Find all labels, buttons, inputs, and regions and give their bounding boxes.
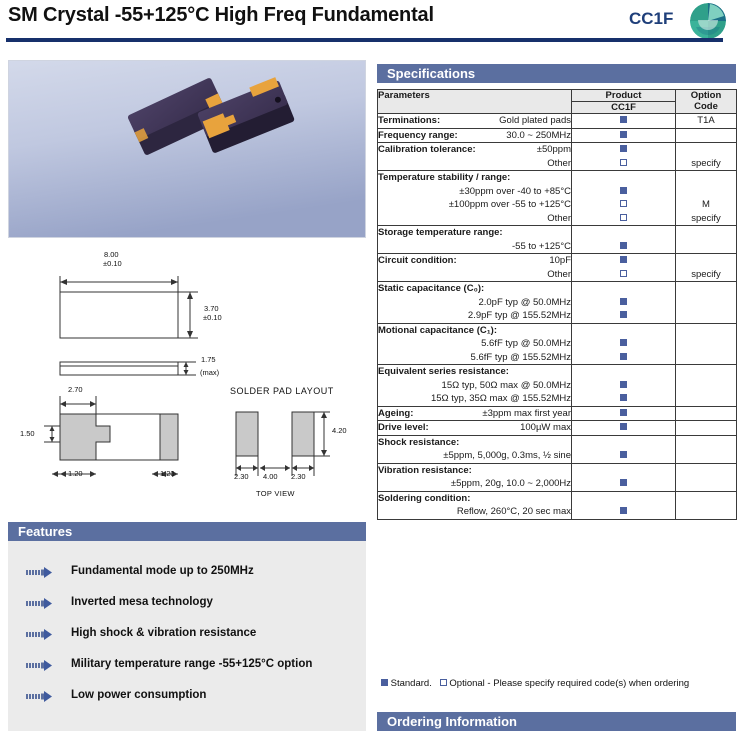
option-code-cell: T1A <box>676 114 737 129</box>
parameter-label-line: Temperature stability / range: <box>378 171 571 185</box>
parameter-label-line: Circuit condition:10pF <box>378 254 571 268</box>
option-code-cell <box>676 435 737 463</box>
parameter-cell: Soldering condition:Reflow, 260°C, 20 se… <box>378 491 572 519</box>
option-code-cell <box>676 365 737 407</box>
table-row: Motional capacitance (C₁):5.6fF typ @ 50… <box>378 323 737 365</box>
parameter-cell: Equivalent series resistance:15Ω typ, 50… <box>378 365 572 407</box>
table-row: Static capacitance (C₀):2.0pF typ @ 50.0… <box>378 282 737 324</box>
features-panel: Fundamental mode up to 250MHzInverted me… <box>8 541 366 731</box>
parameter-label-line: Soldering condition: <box>378 492 571 506</box>
col-option-line1: Option <box>676 90 736 101</box>
parameter-cell: Temperature stability / range:±30ppm ove… <box>378 171 572 226</box>
table-row: Equivalent series resistance:15Ω typ, 50… <box>378 365 737 407</box>
parameter-sub-line: 2.9pF typ @ 155.52MHz <box>378 309 571 323</box>
marker-standard-icon <box>620 451 627 458</box>
parameter-label-line: Calibration tolerance:±50ppm <box>378 143 571 157</box>
parameter-sub-line: 5.6fF typ @ 155.52MHz <box>378 351 571 365</box>
option-code-value: specify <box>676 268 736 282</box>
product-marker-cell <box>572 226 676 254</box>
option-code-cell: Mspecify <box>676 171 737 226</box>
option-code-value: specify <box>676 157 736 171</box>
feature-label: Fundamental mode up to 250MHz <box>71 561 254 581</box>
parameter-label-line: Equivalent series resistance: <box>378 365 571 379</box>
parameter-sub-line: ±100ppm over -55 to +125°C <box>378 198 571 212</box>
parameter-sub-line: Reflow, 260°C, 20 sec max <box>378 505 571 519</box>
table-row: Ageing:±3ppm max first year <box>378 406 737 421</box>
table-row: Circuit condition:10pFOther specify <box>378 254 737 282</box>
product-marker-cell <box>572 406 676 421</box>
table-header-row: Parameters Product Option Code <box>378 90 737 102</box>
mechanical-drawing: 8.00 ±0.10 3.70 ±0.10 1.75 (max) 2.70 1.… <box>8 244 366 509</box>
marker-standard-icon <box>620 339 627 346</box>
parameter-label-line: Terminations:Gold plated pads <box>378 114 571 128</box>
parameter-sub-line: ±5ppm, 20g, 10.0 ~ 2,000Hz <box>378 477 571 491</box>
table-row: Frequency range:30.0 ~ 250MHz <box>378 128 737 143</box>
specifications-table: Parameters Product Option Code CC1F Term… <box>377 89 737 520</box>
product-marker-cell <box>572 421 676 436</box>
product-marker-cell <box>572 171 676 226</box>
parameter-cell: Terminations:Gold plated pads <box>378 114 572 129</box>
top-view-caption: TOP VIEW <box>256 489 295 498</box>
parameter-label-line: Frequency range:30.0 ~ 250MHz <box>378 129 571 143</box>
dim-sp-pad-w2: 2.30 <box>291 472 306 481</box>
parameter-cell: Frequency range:30.0 ~ 250MHz <box>378 128 572 143</box>
product-marker-cell <box>572 143 676 171</box>
solder-pad-layout-title: SOLDER PAD LAYOUT <box>230 386 334 396</box>
dim-sp-pad-h: 4.20 <box>332 426 347 435</box>
feature-label: Low power consumption <box>71 685 206 705</box>
marker-standard-icon <box>620 256 627 263</box>
company-swirl-logo <box>690 3 726 39</box>
product-marker-cell <box>572 254 676 282</box>
parameter-label-line: Static capacitance (C₀): <box>378 282 571 296</box>
table-row: Soldering condition:Reflow, 260°C, 20 se… <box>378 491 737 519</box>
dim-pad-b: 1.20 <box>160 469 175 478</box>
option-code-cell <box>676 491 737 519</box>
dim-pad-a: 1.20 <box>68 469 83 478</box>
product-marker-cell <box>572 114 676 129</box>
arrow-bullet-icon <box>26 596 52 607</box>
parameter-label-line: Vibration resistance: <box>378 464 571 478</box>
marker-standard-icon <box>620 353 627 360</box>
feature-label: Inverted mesa technology <box>71 592 213 612</box>
dim-height-note: (max) <box>200 368 219 377</box>
parameter-label-line: Drive level:100µW max <box>378 421 571 435</box>
parameter-sub-line: 2.0pF typ @ 50.0MHz <box>378 296 571 310</box>
marker-standard-icon <box>620 242 627 249</box>
parameter-sub-line: 5.6fF typ @ 50.0MHz <box>378 337 571 351</box>
parameter-sub-line: 15Ω typ, 50Ω max @ 50.0MHz <box>378 379 571 393</box>
specifications-section-header: Specifications <box>377 64 736 83</box>
part-code-label: CC1F <box>629 9 673 29</box>
marker-standard-icon <box>620 131 627 138</box>
arrow-bullet-icon <box>26 565 52 576</box>
option-code-cell: specify <box>676 143 737 171</box>
parameter-cell: Static capacitance (C₀):2.0pF typ @ 50.0… <box>378 282 572 324</box>
parameter-cell: Calibration tolerance:±50ppmOther <box>378 143 572 171</box>
marker-optional-icon <box>620 270 627 277</box>
marker-standard-icon <box>620 394 627 401</box>
arrow-bullet-icon <box>26 658 52 669</box>
ordering-information-section-header: Ordering Information <box>377 712 736 731</box>
dim-sp-pad-w1: 2.30 <box>234 472 249 481</box>
option-code-cell <box>676 128 737 143</box>
col-product-sub: CC1F <box>572 102 676 114</box>
legend-optional-text: Optional - Please specify required code(… <box>449 678 689 689</box>
dim-height: 1.75 <box>201 355 216 364</box>
marker-standard-icon <box>620 298 627 305</box>
table-row: Shock resistance:±5ppm, 5,000g, 0.3ms, ½… <box>378 435 737 463</box>
parameter-sub-line: Other <box>378 157 571 171</box>
dim-width: 3.70 <box>204 304 219 313</box>
parameter-cell: Motional capacitance (C₁):5.6fF typ @ 50… <box>378 323 572 365</box>
marker-standard-icon <box>620 116 627 123</box>
parameter-sub-line: ±5ppm, 5,000g, 0.3ms, ½ sine <box>378 449 571 463</box>
parameter-label-line: Storage temperature range: <box>378 226 571 240</box>
parameter-cell: Ageing:±3ppm max first year <box>378 406 572 421</box>
product-marker-cell <box>572 282 676 324</box>
marker-optional-icon <box>620 159 627 166</box>
option-code-cell <box>676 463 737 491</box>
marker-standard-icon <box>620 145 627 152</box>
option-code-cell <box>676 323 737 365</box>
table-row: Calibration tolerance:±50ppmOther specif… <box>378 143 737 171</box>
marker-standard-icon <box>620 187 627 194</box>
parameter-cell: Vibration resistance:±5ppm, 20g, 10.0 ~ … <box>378 463 572 491</box>
page-header: SM Crystal -55+125°C High Freq Fundament… <box>0 0 741 46</box>
parameter-cell: Circuit condition:10pFOther <box>378 254 572 282</box>
option-code-value: M <box>676 198 736 212</box>
arrow-bullet-icon <box>26 627 52 638</box>
option-code-cell <box>676 282 737 324</box>
col-option-code: Option Code <box>676 90 737 114</box>
dim-pad-height: 1.50 <box>20 429 35 438</box>
parameter-sub-line: 15Ω typ, 35Ω max @ 155.52MHz <box>378 392 571 406</box>
product-marker-cell <box>572 365 676 407</box>
feature-label: High shock & vibration resistance <box>71 623 256 643</box>
marker-standard-icon <box>620 423 627 430</box>
arrow-bullet-icon <box>26 689 52 700</box>
legend-standard-icon <box>381 679 388 686</box>
option-code-value: specify <box>676 212 736 226</box>
product-marker-cell <box>572 128 676 143</box>
table-row: Storage temperature range:-55 to +125°C <box>378 226 737 254</box>
table-row: Temperature stability / range:±30ppm ove… <box>378 171 737 226</box>
parameter-cell: Shock resistance:±5ppm, 5,000g, 0.3ms, ½… <box>378 435 572 463</box>
col-parameters: Parameters <box>378 90 572 114</box>
option-code-cell <box>676 421 737 436</box>
marker-standard-icon <box>620 311 627 318</box>
parameter-cell: Storage temperature range:-55 to +125°C <box>378 226 572 254</box>
product-marker-cell <box>572 323 676 365</box>
table-legend: Standard. Optional - Please specify requ… <box>381 678 689 689</box>
parameter-label-line: Ageing:±3ppm max first year <box>378 407 571 421</box>
parameter-label-line: Shock resistance: <box>378 436 571 450</box>
marker-optional-icon <box>620 214 627 221</box>
parameter-sub-line: Other <box>378 212 571 226</box>
option-code-cell: specify <box>676 254 737 282</box>
option-code-value: T1A <box>676 114 736 128</box>
page-title: SM Crystal -55+125°C High Freq Fundament… <box>8 4 434 27</box>
parameter-sub-line: Other <box>378 268 571 282</box>
parameter-label-line: Motional capacitance (C₁): <box>378 324 571 338</box>
dim-length-tol: ±0.10 <box>103 259 122 268</box>
option-code-cell <box>676 406 737 421</box>
dim-width-tol: ±0.10 <box>203 313 222 322</box>
legend-standard-text: Standard. <box>391 678 432 689</box>
marker-standard-icon <box>620 381 627 388</box>
feature-label: Military temperature range -55+125°C opt… <box>71 654 312 674</box>
option-code-cell <box>676 226 737 254</box>
features-section-header: Features <box>8 522 366 541</box>
product-photo <box>8 60 366 238</box>
dim-pad-offset: 2.70 <box>68 385 83 394</box>
marker-standard-icon <box>620 507 627 514</box>
parameter-sub-line: ±30ppm over -40 to +85°C <box>378 185 571 199</box>
table-row: Terminations:Gold plated padsT1A <box>378 114 737 129</box>
table-row: Vibration resistance:±5ppm, 20g, 10.0 ~ … <box>378 463 737 491</box>
product-marker-cell <box>572 463 676 491</box>
parameter-sub-line: -55 to +125°C <box>378 240 571 254</box>
dim-length: 8.00 <box>104 250 119 259</box>
legend-optional-icon <box>440 679 447 686</box>
marker-standard-icon <box>620 479 627 486</box>
col-option-line2: Code <box>676 101 736 112</box>
product-marker-cell <box>572 491 676 519</box>
parameter-cell: Drive level:100µW max <box>378 421 572 436</box>
col-product: Product <box>572 90 676 102</box>
marker-standard-icon <box>620 409 627 416</box>
product-marker-cell <box>572 435 676 463</box>
marker-optional-icon <box>620 200 627 207</box>
header-divider <box>6 38 723 42</box>
table-row: Drive level:100µW max <box>378 421 737 436</box>
dim-sp-gap: 4.00 <box>263 472 278 481</box>
